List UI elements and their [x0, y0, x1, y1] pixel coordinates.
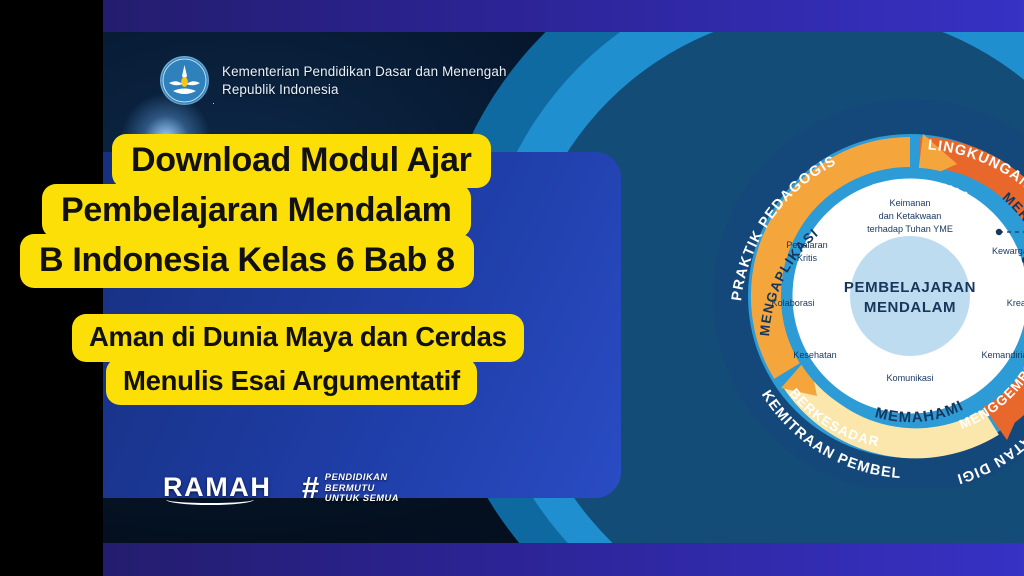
dimension-keimanan-l1: Keimanan: [890, 198, 931, 208]
dimension-kolaborasi: Kolaborasi: [772, 298, 815, 308]
letterbox-band-bottom: [103, 543, 1024, 576]
letterbox-band-top: [103, 0, 1024, 32]
subheadline-line-1: Aman di Dunia Maya dan Cerdas: [72, 314, 524, 362]
headline-line-2: Pembelajaran Mendalam: [42, 184, 471, 238]
headline-block: Download Modul Ajar Pembelajaran Mendala…: [0, 134, 620, 405]
dimension-komunikasi: Komunikasi: [886, 373, 933, 383]
core-label-line1: PEMBELAJARAN: [844, 279, 976, 296]
headline-line-3: B Indonesia Kelas 6 Bab 8: [20, 234, 474, 288]
core-circle: [850, 236, 970, 356]
headline-line-1: Download Modul Ajar: [112, 134, 491, 188]
dimension-keimanan-l2: dan Ketakwaan: [879, 211, 942, 221]
pendidikan-bermutu-logo: # PENDIDIKAN BERMUTU UNTUK SEMUA: [302, 472, 399, 504]
dimension-penalaran-l2: Kritis: [797, 253, 818, 263]
pembelajaran-mendalam-diagram: PRAKTIK PEDAGOGIS LINGKUNGAN PEMBELAJARA…: [695, 88, 1024, 488]
tagline-line3: UNTUK SEMUA: [325, 493, 399, 504]
subheadline-line-2: Menulis Esai Argumentatif: [106, 358, 477, 406]
dimension-keimanan-l3: terhadap Tuhan YME: [867, 224, 953, 234]
dimension-kesehatan: Kesehatan: [793, 350, 836, 360]
ramah-logo: RAMAH: [163, 472, 272, 503]
tagline-line1: PENDIDIKAN: [325, 472, 399, 483]
ministry-name-line1: Kementerian Pendidikan Dasar dan Menenga…: [222, 63, 507, 81]
screenshot-root: Kementerian Pendidikan Dasar dan Menenga…: [0, 0, 1024, 576]
ramah-smile-icon: [166, 494, 254, 505]
ministry-header: Kementerian Pendidikan Dasar dan Menenga…: [160, 56, 507, 105]
tagline-line2: BERMUTU: [325, 483, 399, 494]
dimension-kewargaan: Kewargaan: [992, 246, 1024, 256]
dimension-kreativitas: Kreativitas: [1007, 298, 1024, 308]
footer-logos: RAMAH # PENDIDIKAN BERMUTU UNTUK SEMUA: [163, 472, 399, 504]
hashtag-icon: #: [302, 472, 319, 503]
ministry-name: Kementerian Pendidikan Dasar dan Menenga…: [222, 63, 507, 98]
ministry-name-line2: Republik Indonesia: [222, 81, 507, 99]
tut-wuri-handayani-logo: [160, 56, 209, 105]
pendidikan-bermutu-tagline: PENDIDIKAN BERMUTU UNTUK SEMUA: [325, 472, 399, 504]
dimension-kemandirian: Kemandirian: [981, 350, 1024, 360]
core-label-line2: MENDALAM: [864, 299, 956, 316]
dimension-penalaran-l1: Penalaran: [786, 240, 827, 250]
